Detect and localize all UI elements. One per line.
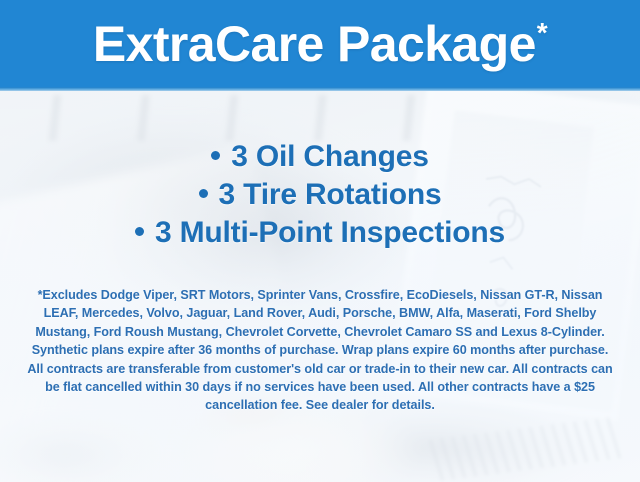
bullet-dot-icon [211,151,220,160]
header-underline-divider [0,87,640,91]
benefit-item-tire-rotations: 3 Tire Rotations [0,176,640,214]
disclaimer-text: *Excludes Dodge Viper, SRT Motors, Sprin… [26,286,614,415]
extracare-package-card: ExtraCare Package* 3 Oil Changes 3 Tire … [0,0,640,482]
bullet-dot-icon [199,189,208,198]
bullet-dot-icon [135,227,144,236]
benefits-list: 3 Oil Changes 3 Tire Rotations 3 Multi-P… [0,138,640,252]
benefit-label: 3 Multi-Point Inspections [155,216,505,249]
benefit-label: 3 Oil Changes [231,140,428,173]
benefit-label: 3 Tire Rotations [219,178,442,211]
page-title-text: ExtraCare Package [93,19,536,69]
page-title: ExtraCare Package* [0,0,640,87]
disclaimer-block: *Excludes Dodge Viper, SRT Motors, Sprin… [26,286,614,415]
benefit-item-multi-point-inspections: 3 Multi-Point Inspections [0,214,640,252]
benefit-item-oil-changes: 3 Oil Changes [0,138,640,176]
